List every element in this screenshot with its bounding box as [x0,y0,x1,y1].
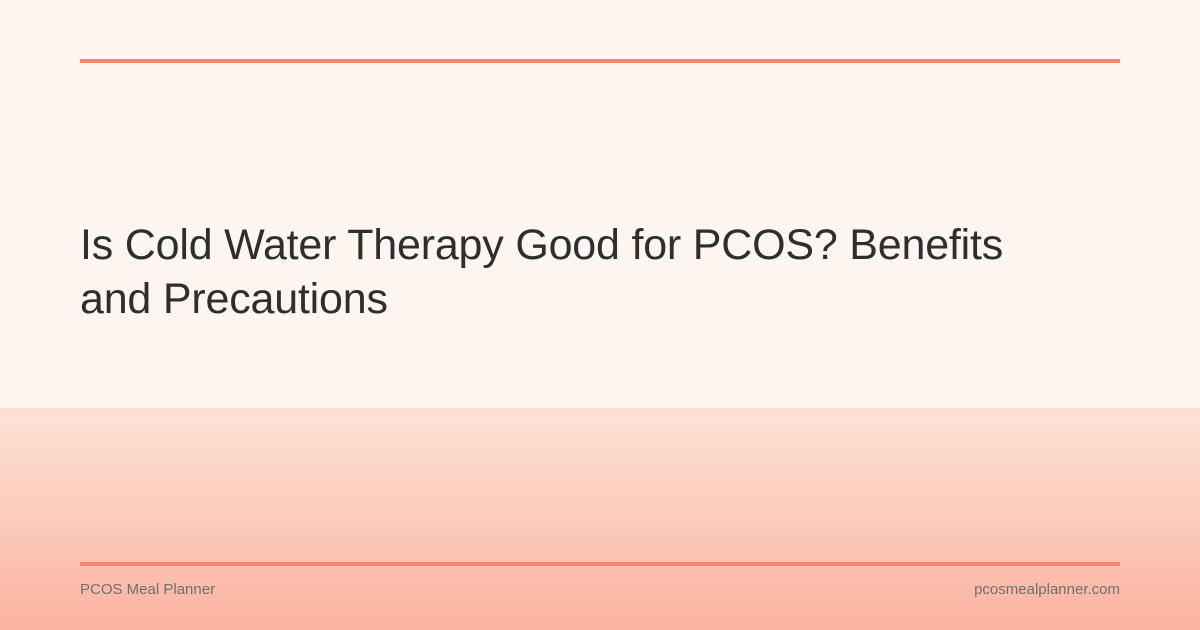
site-domain: pcosmealplanner.com [974,578,1120,602]
footer: PCOS Meal Planner pcosmealplanner.com [80,578,1120,602]
share-card: Is Cold Water Therapy Good for PCOS? Ben… [0,0,1200,630]
brand-name: PCOS Meal Planner [80,578,215,602]
footer-accent-rule [80,562,1120,566]
headline-container: Is Cold Water Therapy Good for PCOS? Ben… [80,218,1080,326]
page-title: Is Cold Water Therapy Good for PCOS? Ben… [80,218,1080,326]
top-accent-rule [80,59,1120,63]
